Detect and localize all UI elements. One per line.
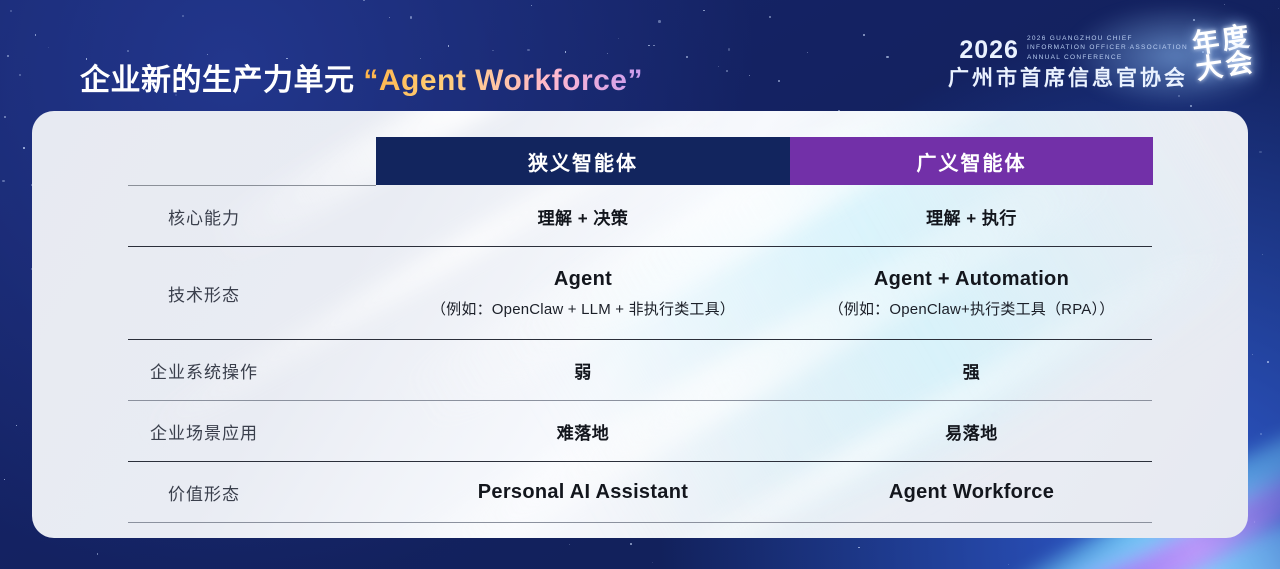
row-divider — [128, 522, 1152, 523]
cell-note: （例如：OpenClaw + LLM + 非执行类工具） — [431, 298, 735, 319]
logo-en-line-3: ANNUAL CONFERENCE — [1027, 54, 1123, 61]
row-label-cell: 企业系统操作 — [32, 358, 376, 383]
logo-top-row: 2026 2026 GUANGZHOU CHIEF INFORMATION OF… — [959, 34, 1188, 63]
cell-value: 理解 + 决策 — [538, 204, 629, 229]
row-label: 核心能力 — [168, 204, 240, 229]
row-label-cell: 核心能力 — [32, 204, 376, 229]
table-header-narrow-label: 狭义智能体 — [528, 147, 638, 176]
cell-value: Personal AI Assistant — [478, 481, 688, 504]
cell-narrow: Personal AI Assistant — [376, 481, 790, 504]
row-label-cell: 技术形态 — [32, 281, 376, 306]
cell-broad: Agent + Automation（例如：OpenClaw+执行类工具（RPA… — [790, 268, 1153, 319]
row-label: 企业场景应用 — [150, 419, 258, 444]
cell-broad: Agent Workforce — [790, 481, 1153, 504]
table-row: 企业场景应用难落地易落地 — [32, 401, 1248, 462]
row-label: 价值形态 — [168, 480, 240, 505]
table-row: 企业系统操作弱强 — [32, 340, 1248, 401]
table-header-narrow: 狭义智能体 — [376, 137, 790, 185]
table-body: 核心能力理解 + 决策理解 + 执行技术形态Agent（例如：OpenClaw … — [32, 185, 1248, 523]
logo-stamp-line-2: 大会 — [1194, 49, 1257, 83]
cell-value: 难落地 — [557, 419, 610, 444]
table-row: 价值形态Personal AI AssistantAgent Workforce — [32, 462, 1248, 523]
cell-value: 强 — [963, 358, 981, 383]
row-label: 技术形态 — [168, 281, 240, 306]
row-divider — [128, 185, 376, 186]
table-row: 技术形态Agent（例如：OpenClaw + LLM + 非执行类工具）Age… — [32, 247, 1248, 340]
page-title-en: “Agent Workforce” — [363, 64, 643, 97]
page-title: 企业新的生产力单元 “Agent Workforce” — [80, 55, 643, 99]
cell-value: 易落地 — [945, 419, 998, 444]
cell-value: Agent Workforce — [889, 481, 1054, 504]
logo-en-line-2: INFORMATION OFFICER ASSOCIATION — [1027, 44, 1188, 51]
logo-text-block: 2026 2026 GUANGZHOU CHIEF INFORMATION OF… — [948, 28, 1188, 89]
comparison-table: 狭义智能体 广义智能体 核心能力理解 + 决策理解 + 执行技术形态Agent（… — [32, 111, 1248, 538]
row-label: 企业系统操作 — [150, 358, 258, 383]
cell-narrow: 理解 + 决策 — [376, 204, 790, 229]
comparison-panel: 狭义智能体 广义智能体 核心能力理解 + 决策理解 + 执行技术形态Agent（… — [32, 111, 1248, 538]
page-title-cn: 企业新的生产力单元 — [80, 64, 355, 97]
cell-broad: 强 — [790, 358, 1153, 383]
cell-value: 理解 + 执行 — [926, 204, 1017, 229]
logo-stamp: 年度 大会 — [1191, 24, 1258, 83]
table-header-broad-label: 广义智能体 — [917, 147, 1027, 176]
cell-narrow: Agent（例如：OpenClaw + LLM + 非执行类工具） — [376, 268, 790, 319]
cell-broad: 理解 + 执行 — [790, 204, 1153, 229]
logo-en-line-1: 2026 GUANGZHOU CHIEF — [1027, 35, 1133, 42]
cell-value: 弱 — [574, 358, 592, 383]
conference-logo: 2026 2026 GUANGZHOU CHIEF INFORMATION OF… — [948, 28, 1254, 104]
table-row: 核心能力理解 + 决策理解 + 执行 — [32, 185, 1248, 247]
logo-english-name: 2026 GUANGZHOU CHIEF INFORMATION OFFICER… — [1027, 34, 1188, 63]
row-label-cell: 企业场景应用 — [32, 419, 376, 444]
cell-narrow: 难落地 — [376, 419, 790, 444]
cell-narrow: 弱 — [376, 358, 790, 383]
cell-broad: 易落地 — [790, 419, 1153, 444]
logo-year: 2026 — [959, 38, 1019, 63]
cell-value: Agent + Automation — [874, 268, 1069, 291]
cell-note: （例如：OpenClaw+执行类工具（RPA）） — [829, 298, 1115, 319]
row-label-cell: 价值形态 — [32, 480, 376, 505]
table-header-broad: 广义智能体 — [790, 137, 1153, 185]
logo-org-name: 广州市首席信息官协会 — [948, 68, 1188, 89]
cell-value: Agent — [554, 268, 612, 291]
